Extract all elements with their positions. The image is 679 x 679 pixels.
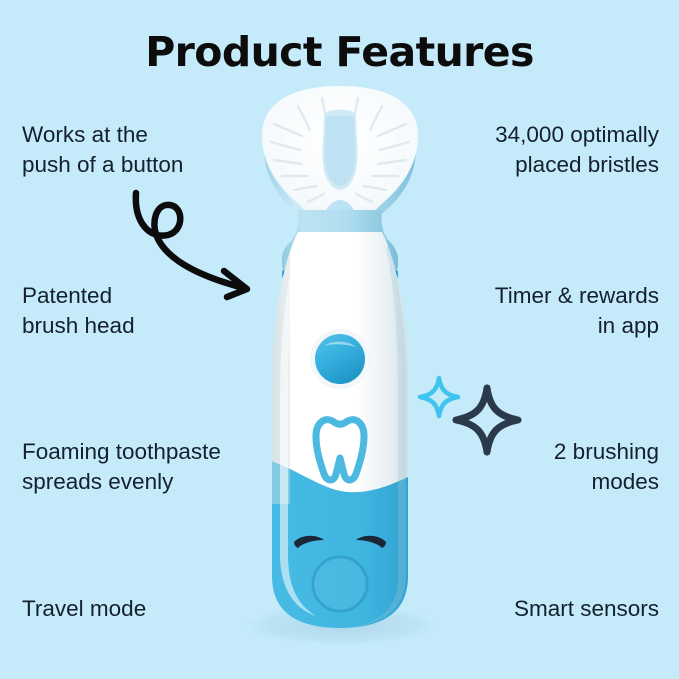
handle-body [238,232,442,636]
feature-works-push-button: Works at the push of a button [22,120,252,179]
page-title: Product Features [0,28,679,76]
feature-timer-rewards: Timer & rewards in app [409,281,659,340]
feature-bristle-count: 34,000 optimally placed bristles [409,120,659,179]
power-button[interactable] [310,329,370,389]
infographic-canvas: Product Features Works at the push of a … [0,0,679,679]
feature-smart-sensors: Smart sensors [429,594,659,624]
product-toothbrush [238,84,442,636]
feature-travel-mode: Travel mode [22,594,252,624]
sparkle-large-icon [456,388,518,452]
